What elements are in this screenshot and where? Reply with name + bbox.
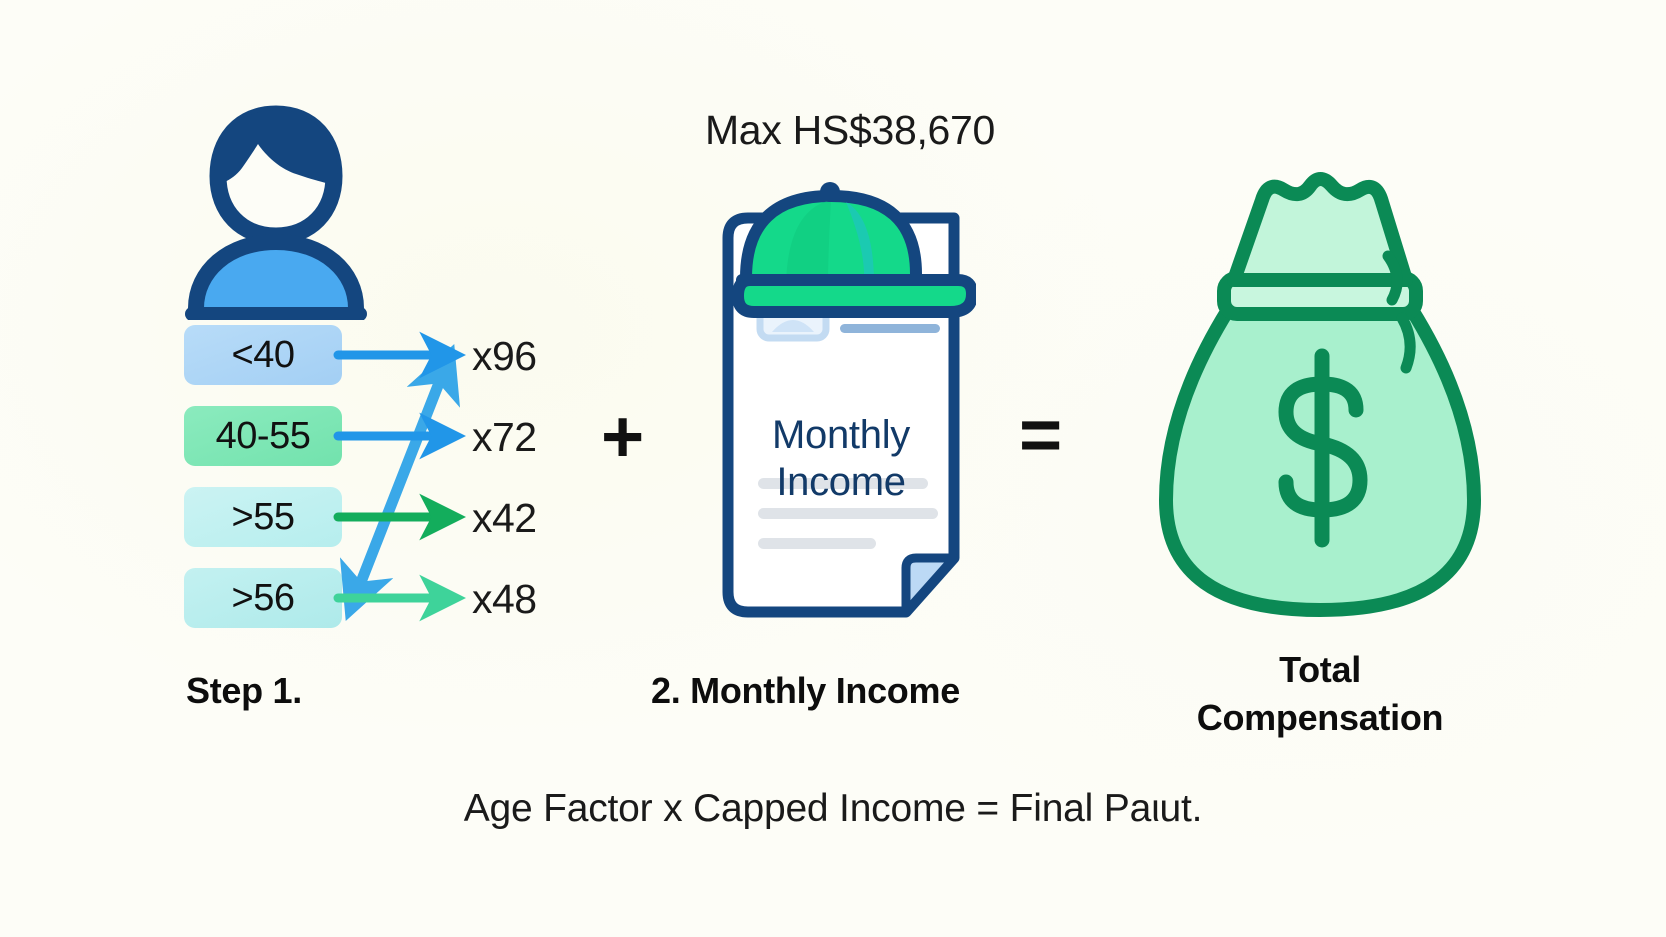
age-bracket-label: 40-55 bbox=[216, 415, 311, 458]
document-card-icon bbox=[706, 160, 976, 640]
total-caption-line1: Total bbox=[1125, 646, 1515, 694]
crossing-double-arrow bbox=[352, 360, 448, 605]
money-bag-icon bbox=[1150, 160, 1490, 640]
age-bracket-box[interactable]: >56 bbox=[184, 568, 342, 628]
total-caption-line2: Compensation bbox=[1125, 694, 1515, 742]
max-cap-label: Max HS$38,670 bbox=[640, 107, 1060, 154]
multiplier-label: x72 bbox=[472, 414, 602, 461]
total-compensation-caption: Total Compensation bbox=[1125, 646, 1515, 741]
age-bracket-label: <40 bbox=[232, 334, 295, 377]
step2-caption: 2. Monthly Income bbox=[651, 670, 960, 712]
equals-operator: = bbox=[1019, 398, 1062, 472]
age-bracket-box[interactable]: >55 bbox=[184, 487, 342, 547]
step1-caption: Step 1. bbox=[186, 670, 302, 712]
age-bracket-label: >56 bbox=[232, 577, 295, 620]
multiplier-label: x48 bbox=[472, 576, 602, 623]
multiplier-label: x96 bbox=[472, 333, 602, 380]
doc-title-line1: Monthly bbox=[706, 413, 976, 458]
person-avatar-icon bbox=[180, 100, 372, 320]
infographic-canvas: <40 40-55 >55 >56 bbox=[0, 0, 1666, 937]
multiplier-label: x42 bbox=[472, 495, 602, 542]
formula-caption: Age Factor x Capped Income = Final Paιut… bbox=[0, 787, 1666, 831]
doc-title-line2: Income bbox=[706, 460, 976, 505]
age-bracket-box[interactable]: <40 bbox=[184, 325, 342, 385]
age-bracket-box[interactable]: 40-55 bbox=[184, 406, 342, 466]
plus-operator: + bbox=[601, 400, 644, 474]
age-bracket-label: >55 bbox=[232, 496, 295, 539]
